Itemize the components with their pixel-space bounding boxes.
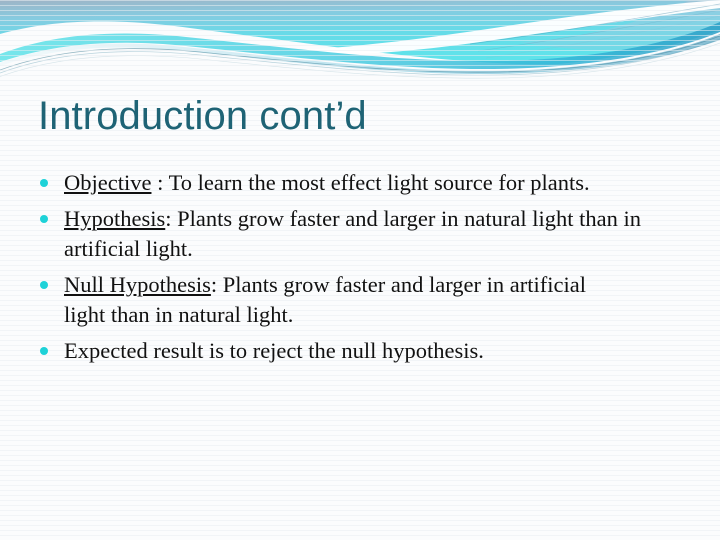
bullet-body-text: Expected result is to reject the null hy…: [64, 338, 484, 363]
page-title: Introduction cont’d: [38, 92, 367, 140]
decorative-wave-banner: [0, 0, 720, 96]
bullet-dot-icon: [40, 347, 48, 355]
bullet-dot-icon: [40, 281, 48, 289]
slide-bullet-list: Objective : To learn the most effect lig…: [34, 168, 664, 372]
bullet-text: Objective : To learn the most effect lig…: [64, 168, 664, 198]
list-item: Expected result is to reject the null hy…: [34, 336, 664, 366]
bullet-dot-icon: [40, 215, 48, 223]
bullet-body-text: : To learn the most effect light source …: [151, 170, 589, 195]
bullet-lead-label: Objective: [64, 170, 151, 195]
bullet-lead-label: Null Hypothesis: [64, 272, 211, 297]
list-item: Objective : To learn the most effect lig…: [34, 168, 664, 198]
bullet-text: Hypothesis: Plants grow faster and large…: [64, 204, 664, 264]
bullet-text: Expected result is to reject the null hy…: [64, 336, 664, 366]
list-item: Null Hypothesis: Plants grow faster and …: [34, 270, 664, 330]
bullet-lead-label: Hypothesis: [64, 206, 165, 231]
bullet-dot-icon: [40, 179, 48, 187]
presentation-slide: Introduction cont’d Objective : To learn…: [0, 0, 720, 540]
bullet-text: Null Hypothesis: Plants grow faster and …: [64, 270, 609, 330]
list-item: Hypothesis: Plants grow faster and large…: [34, 204, 664, 264]
